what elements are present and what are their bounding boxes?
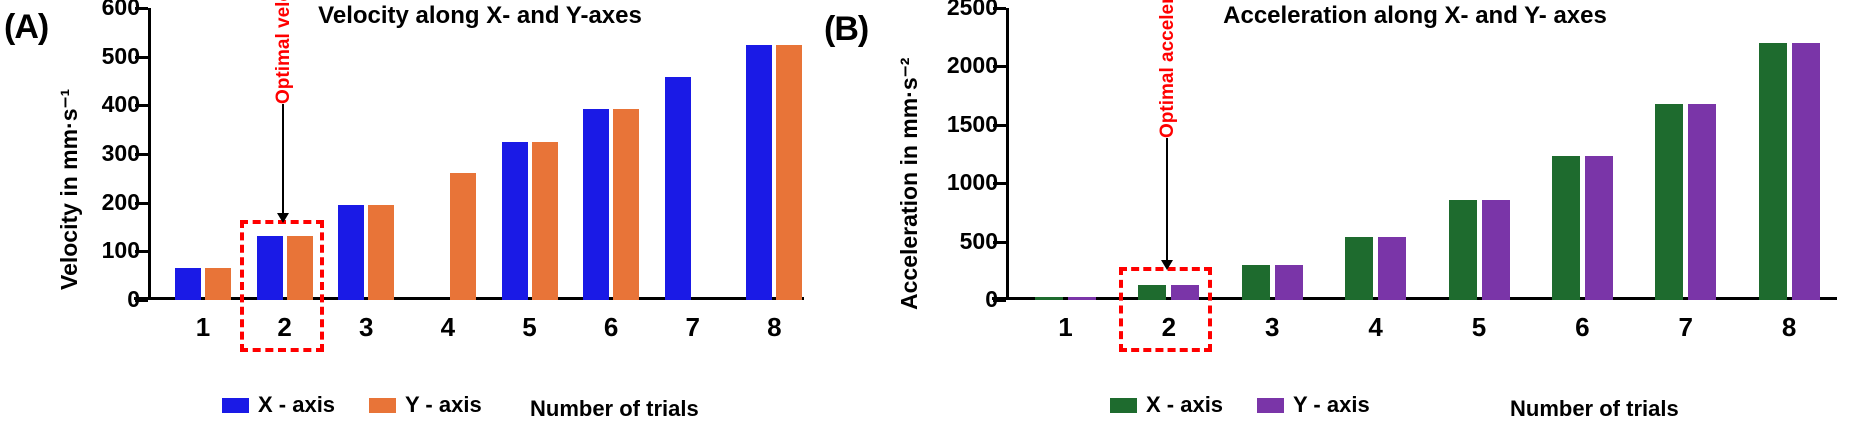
legend-swatch-icon	[369, 398, 396, 413]
bar-x-axis	[1242, 265, 1270, 300]
plot-area-a: 0100200300400500600 Optimal velocity	[148, 8, 804, 300]
bar-group	[665, 8, 721, 300]
x-tick-label: 7	[1679, 312, 1693, 343]
y-tick-label: 500	[102, 43, 140, 70]
y-tick-label: 1500	[947, 111, 998, 138]
legend-swatch-icon	[222, 398, 249, 413]
legend-label: X - axis	[258, 392, 335, 418]
x-tick-label: 3	[359, 312, 373, 343]
y-tick-label: 2000	[947, 52, 998, 79]
bar-group	[420, 8, 476, 300]
bar-y-axis	[205, 268, 231, 300]
bar-group	[1655, 8, 1716, 300]
bar-y-axis	[1688, 104, 1716, 300]
figure-root: (A) Velocity along X- and Y-axes Velocit…	[0, 0, 1856, 442]
bar-y-axis	[1482, 200, 1510, 300]
y-axis-label-a: Velocity in mm·s⁻¹	[56, 89, 83, 290]
y-tick-label: 1000	[947, 169, 998, 196]
bar-y-axis	[532, 142, 558, 300]
y-tick-label: 400	[102, 91, 140, 118]
bar-group	[583, 8, 639, 300]
x-tick-label: 8	[767, 312, 781, 343]
legend-label: X - axis	[1146, 392, 1223, 418]
plot-area-b: 05001000150020002500 Optimal acceleratio…	[1006, 8, 1836, 300]
x-tick-label: 1	[196, 312, 210, 343]
panel-letter-a: (A)	[4, 8, 48, 47]
bar-y-axis	[613, 109, 639, 300]
bar-group	[1242, 8, 1303, 300]
bar-x-axis	[502, 142, 528, 300]
x-tick-label: 5	[522, 312, 536, 343]
annotation-arrow-icon	[282, 104, 284, 214]
bar-x-axis	[746, 45, 772, 300]
bar-x-axis	[583, 109, 609, 300]
legend-label: Y - axis	[1293, 392, 1370, 418]
bar-group	[1345, 8, 1406, 300]
bar-group	[338, 8, 394, 300]
bar-y-axis	[450, 173, 476, 300]
bar-x-axis	[1759, 43, 1787, 300]
x-axis-label-a: Number of trials	[530, 396, 699, 422]
bar-group	[175, 8, 231, 300]
annotation-label: Optimal acceleration	[1157, 0, 1179, 138]
bar-x-axis	[1655, 104, 1683, 300]
bar-group	[1759, 8, 1820, 300]
bar-group	[502, 8, 558, 300]
x-tick-label: 2	[1162, 312, 1176, 343]
legend-a: X - axisY - axis	[222, 392, 482, 418]
bar-x-axis	[338, 205, 364, 300]
bar-y-axis	[1378, 237, 1406, 300]
x-tick-label: 5	[1472, 312, 1486, 343]
bar-y-axis	[1068, 297, 1096, 301]
y-tick-label: 200	[102, 189, 140, 216]
x-axis-label-b: Number of trials	[1510, 396, 1679, 422]
bar-group	[1449, 8, 1510, 300]
bar-group	[746, 8, 802, 300]
x-tick-label: 8	[1782, 312, 1796, 343]
bar-y-axis	[1275, 265, 1303, 300]
legend-swatch-icon	[1110, 398, 1137, 413]
legend-item-x-axis[interactable]: X - axis	[1110, 392, 1223, 418]
y-tick-label: 0	[127, 286, 140, 313]
legend-b: X - axisY - axis	[1110, 392, 1370, 418]
bars-container-b	[1009, 8, 1836, 300]
bar-y-axis	[1585, 156, 1613, 300]
bar-group	[1035, 8, 1096, 300]
x-tick-label: 4	[1368, 312, 1382, 343]
x-tick-label: 2	[277, 312, 291, 343]
bar-x-axis	[1552, 156, 1580, 300]
bar-y-axis	[776, 45, 802, 300]
x-tick-label: 6	[1575, 312, 1589, 343]
annotation-label: Optimal velocity	[273, 0, 295, 104]
x-tick-label: 3	[1265, 312, 1279, 343]
x-tick-label: 7	[686, 312, 700, 343]
bar-y-axis	[368, 205, 394, 300]
y-tick-label: 0	[985, 286, 998, 313]
bar-x-axis	[665, 77, 691, 300]
x-tick-label: 1	[1058, 312, 1072, 343]
panel-velocity: (A) Velocity along X- and Y-axes Velocit…	[0, 0, 820, 442]
x-tick-label: 4	[441, 312, 455, 343]
legend-label: Y - axis	[405, 392, 482, 418]
bar-x-axis	[175, 268, 201, 300]
bar-x-axis	[1449, 200, 1477, 300]
bar-group	[1552, 8, 1613, 300]
panel-letter-b: (B)	[824, 10, 868, 49]
bar-x-axis	[1345, 237, 1373, 300]
y-tick-label: 600	[102, 0, 140, 21]
legend-item-x-axis[interactable]: X - axis	[222, 392, 335, 418]
legend-item-y-axis[interactable]: Y - axis	[369, 392, 482, 418]
x-tick-label: 6	[604, 312, 618, 343]
y-tick-label: 100	[102, 237, 140, 264]
bar-x-axis	[1035, 297, 1063, 301]
y-tick-label: 500	[960, 228, 998, 255]
bar-y-axis	[1792, 43, 1820, 300]
legend-item-y-axis[interactable]: Y - axis	[1257, 392, 1370, 418]
panel-acceleration: (B) Acceleration along X- and Y- axes Ac…	[820, 0, 1856, 442]
y-axis-label-b: Acceleration in mm·s⁻²	[896, 58, 923, 310]
y-tick-label: 2500	[947, 0, 998, 21]
annotation-arrow-icon	[1166, 138, 1168, 261]
legend-swatch-icon	[1257, 398, 1284, 413]
y-tick-label: 300	[102, 140, 140, 167]
